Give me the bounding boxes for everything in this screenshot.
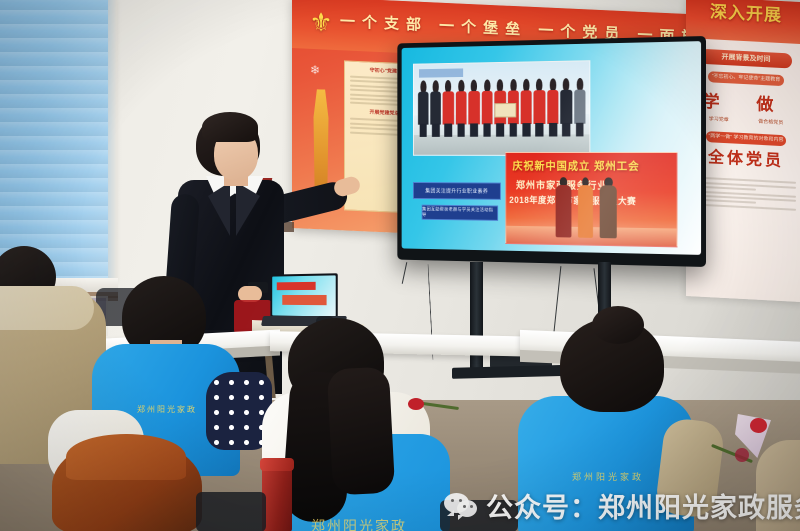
tv-stand-column [470,262,483,374]
presentation-tv[interactable]: 庆祝新中国成立 郑州工会 郑州市家政服务行业 2018年度郑州市家政服务员大赛 … [397,36,706,267]
laptop-display [272,275,336,316]
caption-left: 学习党章 [709,115,729,126]
tv-brand-logo [535,253,574,255]
bouquet-flower [750,418,767,433]
right-board-pill-1: 开展背景及时间 [700,49,792,69]
bouquet-ribbon [735,448,749,462]
thermos-cap [260,458,294,471]
tv-screen: 庆祝新中国成立 郑州工会 郑州市家政服务行业 2018年度郑州市家政服务员大赛 … [402,41,701,255]
vest-logo-text: 郑州阳光家政 [124,404,210,420]
right-board-pill-2: "不忘初心、牢记使命"主题教育 [708,71,784,86]
right-board-big-2: 全体党员 [696,147,796,174]
caption-right: 做合格党员 [758,118,783,129]
wechat-icon [444,491,478,519]
window-blind-slats [0,0,112,284]
presenter-fringe [202,112,258,142]
vest-logo-text-bottom: 郑州阳光家政 [244,516,474,531]
text-line [696,203,796,210]
attendee-ponytail-hair [327,366,396,495]
attendee-hair-bun [592,306,644,344]
window-blind-edge [108,0,117,296]
rose-flower [408,398,424,410]
attendee-fur-hood [0,286,94,330]
laptop-slide-block [282,295,326,305]
hammer-sickle-icon: ⚜ [306,7,336,38]
laptop-slide-block [277,281,316,290]
vest-logo-text: 郑州阳光家政 [548,470,668,486]
attendee-orange-hair-top [66,434,186,480]
classroom-photo-scene: ⚜ 一个支部 一个堡垒 一个党员 一面旗帜 ❄ 守初心"党建"提升立法实效性 开… [0,0,800,531]
tv-bezel: 庆祝新中国成立 郑州工会 郑州市家政服务行业 2018年度郑州市家政服务员大赛 … [402,41,701,255]
watermark-text: 公众号：郑州阳光家政服务公司 [486,486,800,525]
watermark: 公众号：郑州阳光家政服务公司 [444,486,800,524]
right-board-body-text [696,175,796,246]
dove-icon: ❄ [310,63,332,78]
right-board-pill-3: "两学一做" 学习教育的对象和内容 [706,131,786,146]
screen-glare [402,41,701,255]
presenter-laptop[interactable] [270,273,337,318]
